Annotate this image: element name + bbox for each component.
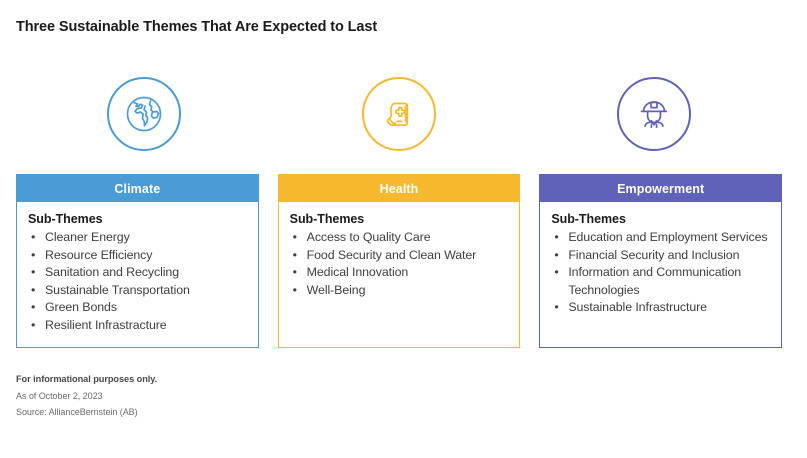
bullet-icon: • <box>31 282 35 300</box>
card-body-climate: Sub-Themes •Cleaner Energy •Resource Eff… <box>17 202 258 347</box>
list-item-label: Medical Innovation <box>307 265 409 279</box>
bullet-icon: • <box>554 229 558 247</box>
sub-themes-label: Sub-Themes <box>28 212 249 226</box>
list-item-label: Sanitation and Recycling <box>45 265 179 279</box>
bullet-icon: • <box>293 264 297 282</box>
theme-card-health[interactable]: Health Sub-Themes •Access to Quality Car… <box>278 174 521 348</box>
hand-holding-phone-medical-cross-icon <box>377 92 421 136</box>
list-item-label: Green Bonds <box>45 300 117 314</box>
sub-themes-label: Sub-Themes <box>551 212 772 226</box>
list-item: •Financial Security and Inclusion <box>551 247 772 265</box>
theme-card-empowerment[interactable]: Empowerment Sub-Themes •Education and Em… <box>539 174 782 348</box>
list-item: •Resilient Infrastracture <box>28 317 249 335</box>
sub-theme-list-empowerment: •Education and Employment Services •Fina… <box>551 229 772 317</box>
bullet-icon: • <box>31 247 35 265</box>
list-item: •Sustainable Infrastructure <box>551 299 772 317</box>
card-title-climate: Climate <box>114 182 160 196</box>
sub-theme-list-climate: •Cleaner Energy •Resource Efficiency •Sa… <box>28 229 249 335</box>
list-item-label: Resilient Infrastracture <box>45 318 167 332</box>
bullet-icon: • <box>31 264 35 282</box>
worker-icon-circle <box>617 77 691 151</box>
infographic-slide: Three Sustainable Themes That Are Expect… <box>0 0 807 458</box>
list-item-label: Education and Employment Services <box>568 230 767 244</box>
list-item-label: Well-Being <box>307 283 366 297</box>
footnote-disclaimer: For informational purposes only. <box>16 374 157 384</box>
list-item-label: Resource Efficiency <box>45 248 152 262</box>
list-item: •Resource Efficiency <box>28 247 249 265</box>
list-item: •Sustainable Transportation <box>28 282 249 300</box>
icon-cell-climate <box>16 66 271 162</box>
bullet-icon: • <box>31 229 35 247</box>
list-item: •Food Security and Clean Water <box>290 247 511 265</box>
list-item-label: Sustainable Infrastructure <box>568 300 707 314</box>
icon-cell-empowerment <box>527 66 782 162</box>
bullet-icon: • <box>31 299 35 317</box>
list-item: •Medical Innovation <box>290 264 511 282</box>
card-header-climate: Climate <box>17 175 258 202</box>
list-item: •Access to Quality Care <box>290 229 511 247</box>
card-header-health: Health <box>279 175 520 202</box>
list-item: •Education and Employment Services <box>551 229 772 247</box>
card-title-empowerment: Empowerment <box>617 182 704 196</box>
card-title-health: Health <box>380 182 419 196</box>
list-item-label: Financial Security and Inclusion <box>568 248 739 262</box>
list-item: •Information and Communication Technolog… <box>551 264 772 299</box>
card-body-empowerment: Sub-Themes •Education and Employment Ser… <box>540 202 781 329</box>
list-item: •Well-Being <box>290 282 511 300</box>
theme-icon-row <box>16 66 782 162</box>
card-header-empowerment: Empowerment <box>540 175 781 202</box>
card-body-health: Sub-Themes •Access to Quality Care •Food… <box>279 202 520 311</box>
footnotes: For informational purposes only. As of O… <box>16 374 157 423</box>
bullet-icon: • <box>554 299 558 317</box>
icon-cell-health <box>271 66 526 162</box>
theme-cards: Climate Sub-Themes •Cleaner Energy •Reso… <box>16 174 782 348</box>
bullet-icon: • <box>293 282 297 300</box>
list-item-label: Cleaner Energy <box>45 230 130 244</box>
footnote-as-of: As of October 2, 2023 <box>16 391 157 401</box>
footnote-source: Source: AllianceBernstein (AB) <box>16 407 157 417</box>
hard-hat-worker-icon <box>632 92 676 136</box>
list-item: •Cleaner Energy <box>28 229 249 247</box>
list-item-label: Information and Communication Technologi… <box>568 265 741 297</box>
bullet-icon: • <box>293 247 297 265</box>
page-title: Three Sustainable Themes That Are Expect… <box>16 19 377 35</box>
list-item: •Green Bonds <box>28 299 249 317</box>
globe-icon-circle <box>107 77 181 151</box>
list-item-label: Food Security and Clean Water <box>307 248 477 262</box>
bullet-icon: • <box>554 264 558 282</box>
theme-card-climate[interactable]: Climate Sub-Themes •Cleaner Energy •Reso… <box>16 174 259 348</box>
globe-icon <box>121 91 167 137</box>
bullet-icon: • <box>31 317 35 335</box>
sub-themes-label: Sub-Themes <box>290 212 511 226</box>
bullet-icon: • <box>554 247 558 265</box>
bullet-icon: • <box>293 229 297 247</box>
list-item-label: Sustainable Transportation <box>45 283 190 297</box>
list-item-label: Access to Quality Care <box>307 230 431 244</box>
list-item: •Sanitation and Recycling <box>28 264 249 282</box>
sub-theme-list-health: •Access to Quality Care •Food Security a… <box>290 229 511 299</box>
telehealth-icon-circle <box>362 77 436 151</box>
